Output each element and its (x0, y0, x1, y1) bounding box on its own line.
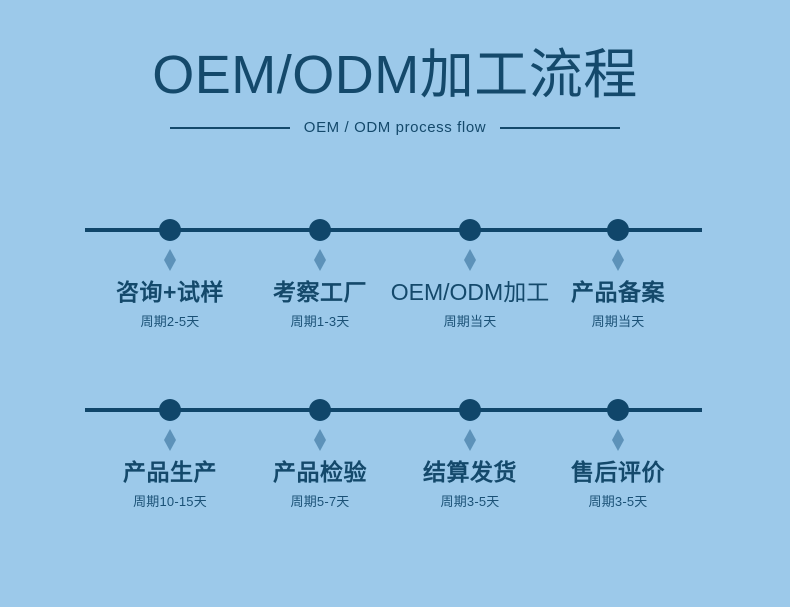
diamond-marker-icon (612, 249, 624, 271)
subtitle-row: OEM / ODM process flow (170, 116, 620, 140)
diamond-marker-icon (164, 249, 176, 271)
step-duration: 周期3-5天 (533, 493, 703, 510)
step-label: OEM/ODM加工 (385, 277, 555, 307)
oem-odm-process-poster: OEM/ODM加工流程 OEM / ODM process flow 咨询+试样… (0, 0, 790, 607)
step-label: 产品检验 (235, 457, 405, 487)
diamond-marker-icon (464, 249, 476, 271)
step-label: 产品生产 (85, 457, 255, 487)
milestone-dot-icon (309, 219, 331, 241)
diamond-marker-icon (464, 429, 476, 451)
milestone-dot-icon (159, 399, 181, 421)
milestone-dot-icon (459, 219, 481, 241)
milestone-dot-icon (607, 399, 629, 421)
step-list-2: 产品生产周期10-15天产品检验周期5-7天结算发货周期3-5天售后评价周期3-… (0, 385, 790, 535)
step-label: 结算发货 (385, 457, 555, 487)
step-label: 考察工厂 (235, 277, 405, 307)
step-duration: 周期1-3天 (235, 313, 405, 330)
step-duration: 周期10-15天 (85, 493, 255, 510)
diamond-marker-icon (314, 249, 326, 271)
step-duration: 周期当天 (385, 313, 555, 330)
diamond-marker-icon (164, 429, 176, 451)
process-row-1: 咨询+试样周期2-5天考察工厂周期1-3天OEM/ODM加工周期当天产品备案周期… (0, 205, 790, 355)
step-duration: 周期3-5天 (385, 493, 555, 510)
step-label: 产品备案 (533, 277, 703, 307)
process-row-2: 产品生产周期10-15天产品检验周期5-7天结算发货周期3-5天售后评价周期3-… (0, 385, 790, 535)
milestone-dot-icon (159, 219, 181, 241)
step-label: 咨询+试样 (85, 277, 255, 307)
step-label: 售后评价 (533, 457, 703, 487)
step-duration: 周期5-7天 (235, 493, 405, 510)
milestone-dot-icon (607, 219, 629, 241)
diamond-marker-icon (612, 429, 624, 451)
step-duration: 周期当天 (533, 313, 703, 330)
subtitle-rule-right (500, 127, 620, 129)
diamond-marker-icon (314, 429, 326, 451)
subtitle-rule-left (170, 127, 290, 129)
step-list-1: 咨询+试样周期2-5天考察工厂周期1-3天OEM/ODM加工周期当天产品备案周期… (0, 205, 790, 355)
poster-header: OEM/ODM加工流程 OEM / ODM process flow (0, 0, 790, 170)
milestone-dot-icon (459, 399, 481, 421)
step-duration: 周期2-5天 (85, 313, 255, 330)
milestone-dot-icon (309, 399, 331, 421)
page-subtitle: OEM / ODM process flow (304, 119, 486, 137)
page-title: OEM/ODM加工流程 (0, 44, 790, 106)
